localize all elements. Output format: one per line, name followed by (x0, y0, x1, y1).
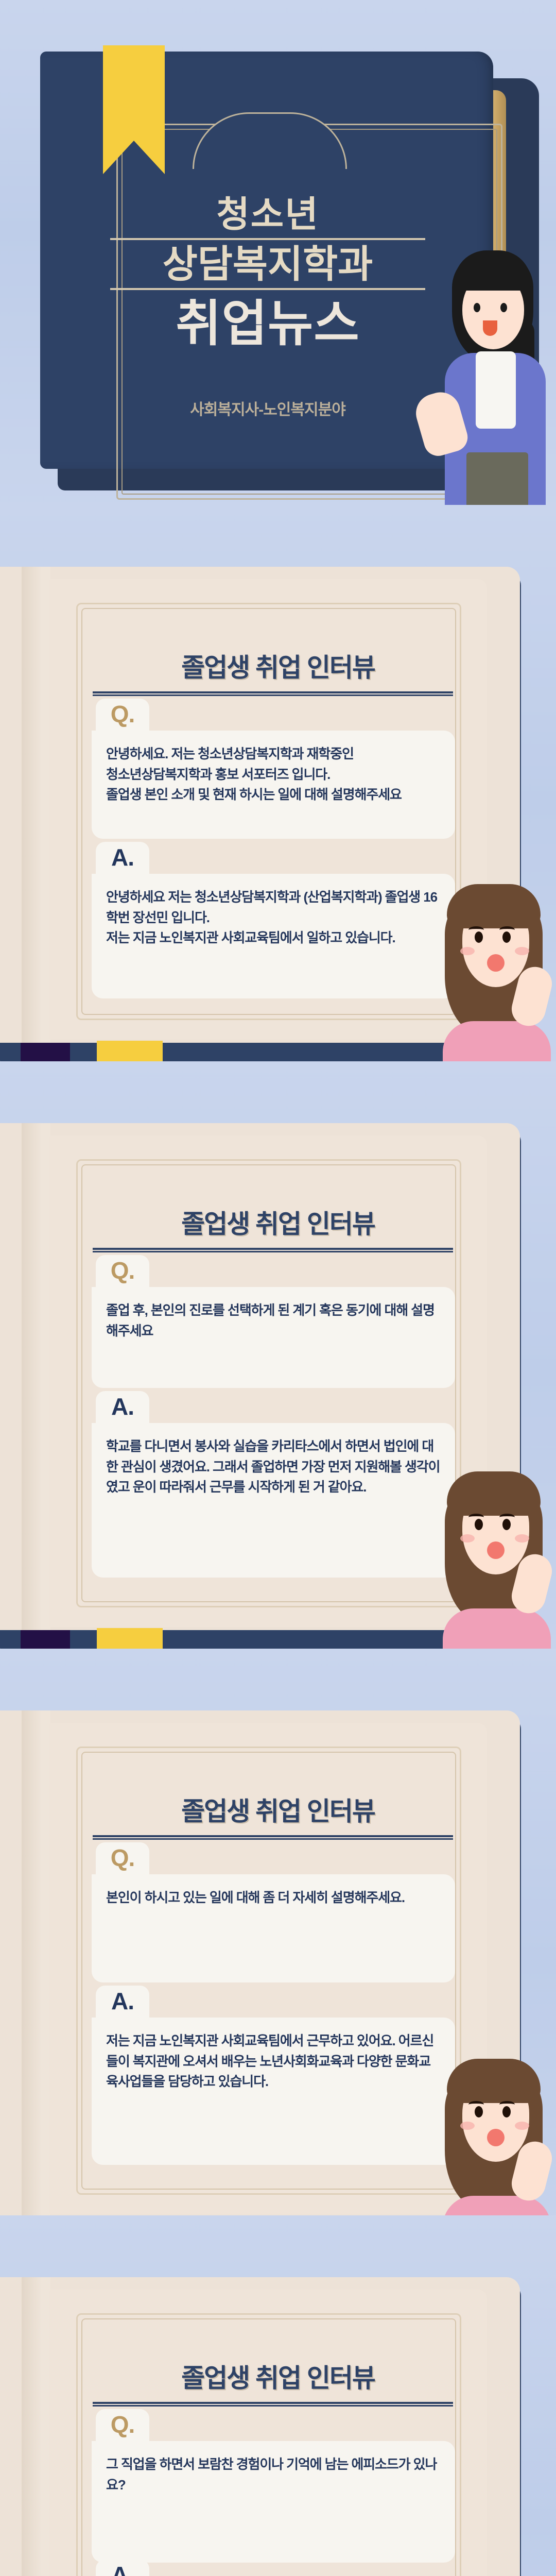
question-bubble: 본인이 하시고 있는 일에 대해 좀 더 자세히 설명해주세요. (92, 1874, 455, 1982)
answer-bubble: 학교를 다니면서 봉사와 실습을 카리타스에서 하면서 법인에 대한 관심이 생… (92, 1423, 455, 1578)
character-mouth (483, 320, 497, 336)
heading-rule (93, 1248, 453, 1252)
character-blush-left (460, 2122, 475, 2130)
title-rule-1 (110, 238, 425, 240)
cover-arch-ornament (193, 112, 347, 169)
card-heading: 졸업생 취업 인터뷰 (0, 1204, 556, 1241)
character-mouth (487, 954, 505, 972)
character-blush-right (515, 1534, 529, 1543)
cover-title-line2: 상담복지학과 (103, 244, 432, 284)
heading-rule (93, 1835, 453, 1840)
card-heading: 졸업생 취업 인터뷰 (0, 2358, 556, 2395)
character-hair-front (447, 1471, 541, 1516)
interview-card-2: 졸업생 취업 인터뷰 Q. 졸업 후, 본인의 진로를 선택하게 된 계기 혹은… (0, 1123, 556, 1710)
answer-bubble: 안녕하세요 저는 청소년상담복지학과 (산업복지학과) 졸업생 16학번 장선민… (92, 874, 455, 998)
character-hair-front (454, 250, 531, 291)
card-character-illustration (424, 871, 556, 1077)
answer-bubble: 저는 지금 노인복지관 사회교육팀에서 근무하고 있어요. 어르신들이 복지관에… (92, 2018, 455, 2165)
question-bubble: 졸업 후, 본인의 진로를 선택하게 된 계기 혹은 동기에 대해 설명해주세요 (92, 1287, 455, 1388)
character-blush-left (460, 1534, 475, 1543)
character-mouth (487, 1541, 505, 1559)
character-eyebrow-left (468, 1514, 484, 1521)
character-eyebrow-right (499, 2101, 515, 2108)
character-blush-right (515, 947, 529, 955)
answer-label: A. (96, 1986, 149, 2018)
character-eyebrow-right (499, 1514, 515, 1521)
character-eyebrow-right (499, 926, 515, 934)
heading-rule (93, 691, 453, 696)
cover-title-line3: 취업뉴스 (103, 298, 432, 350)
card-heading: 졸업생 취업 인터뷰 (0, 1791, 556, 1828)
character-hair-front (447, 884, 541, 928)
question-label: Q. (96, 2409, 149, 2441)
title-rule-2 (110, 288, 425, 290)
card-character-illustration (424, 1458, 556, 1664)
character-shirt (476, 351, 516, 429)
character-eyebrow-left (468, 926, 484, 934)
cover-title-line1: 청소년 (103, 196, 432, 234)
cover-subtitle: 사회복지사-노인복지분야 (103, 397, 432, 419)
character-hair-front (447, 2059, 541, 2103)
character-eyebrow-left (468, 2101, 484, 2108)
interview-card-3: 졸업생 취업 인터뷰 Q. 본인이 하시고 있는 일에 대해 좀 더 자세히 설… (0, 1710, 556, 2298)
character-blush-right (515, 2122, 529, 2130)
character-mouth (487, 2129, 505, 2146)
question-bubble: 그 직업을 하면서 보람찬 경험이나 기억에 남는 에피소드가 있나요? (92, 2441, 455, 2563)
cover-title-block: 청소년 상담복지학과 취업뉴스 (103, 196, 432, 350)
answer-label: A. (96, 842, 149, 874)
character-eye-right (500, 303, 507, 312)
answer-label: A. (96, 1391, 149, 1423)
header-character-illustration (422, 242, 556, 513)
heading-rule (93, 2402, 453, 2406)
character-clipboard (466, 452, 528, 508)
answer-label: A. (96, 2560, 149, 2576)
card-heading: 졸업생 취업 인터뷰 (0, 647, 556, 684)
question-label: Q. (96, 1255, 149, 1287)
question-bubble: 안녕하세요. 저는 청소년상담복지학과 재학중인 청소년상담복지학과 홍보 서포… (92, 731, 455, 839)
question-label: Q. (96, 699, 149, 731)
header-book-cover: 청소년 상담복지학과 취업뉴스 사회복지사-노인복지분야 (0, 0, 556, 513)
interview-card-1: 졸업생 취업 인터뷰 Q. 안녕하세요. 저는 청소년상담복지학과 재학중인 청… (0, 567, 556, 1123)
character-blush-left (460, 947, 475, 955)
character-eye-left (474, 303, 480, 312)
interview-card-4: 졸업생 취업 인터뷰 Q. 그 직업을 하면서 보람찬 경험이나 기억에 남는 … (0, 2277, 556, 2576)
question-label: Q. (96, 1842, 149, 1874)
